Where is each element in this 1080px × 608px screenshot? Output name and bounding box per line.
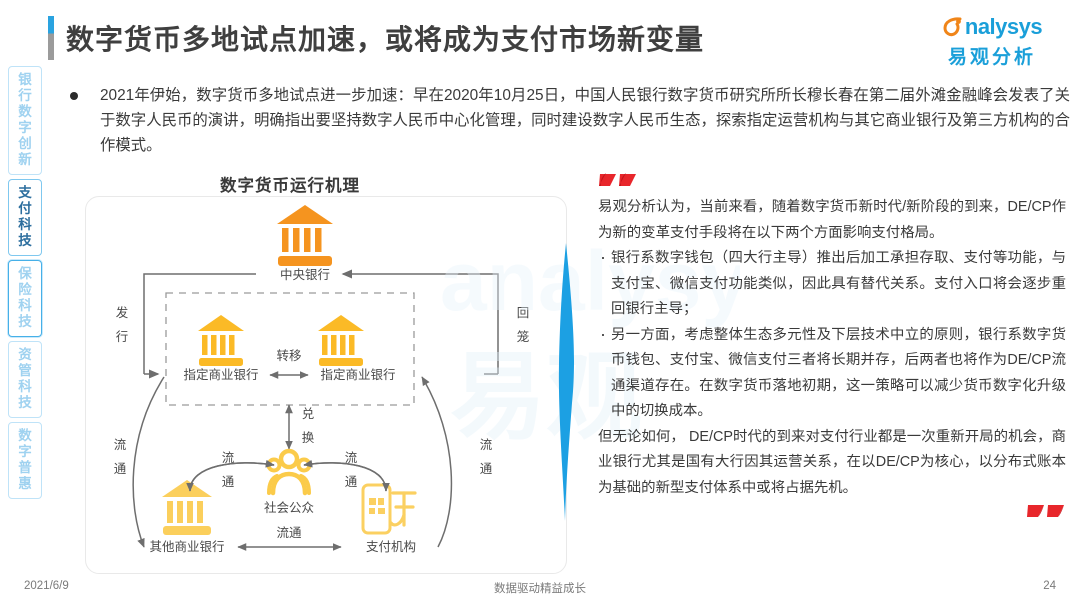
sidebar-char: 数 <box>9 104 41 120</box>
sidebar-char: 新 <box>9 152 41 168</box>
sidebar-char: 保 <box>9 266 41 282</box>
quote-open-icon <box>598 172 644 190</box>
node-label-payment-institution: 支付机构 <box>366 539 416 554</box>
digital-currency-flow-diagram: 中央银行 发 行 回 笼 <box>85 196 567 574</box>
sidebar-char: 险 <box>9 282 41 298</box>
page-title-row: 数字货币多地试点加速，或将成为支付市场新变量 <box>48 16 704 60</box>
panel-bullet-list: 银行系数字钱包（四大行主导）推出后加工承担存取、支付等功能，与支付宝、微信支付功… <box>598 246 1066 425</box>
slide-root: 数字货币多地试点加速，或将成为支付市场新变量 nalysys 易观分析 银 行 … <box>0 0 1080 608</box>
logo-a-icon <box>942 16 964 38</box>
node-label-designated-bank-left: 指定商业银行 <box>183 367 258 382</box>
edge-label-issue-1: 发 <box>116 305 129 320</box>
diagram-title: 数字货币运行机理 <box>0 172 580 196</box>
edge-label-circ-right-inner-2: 通 <box>345 475 358 489</box>
edge-label-issue-2: 行 <box>116 330 129 344</box>
sidebar-char: 惠 <box>9 476 41 492</box>
other-commercial-bank-icon <box>162 480 212 535</box>
sidebar-char: 行 <box>9 88 41 104</box>
diagram-svg: 中央银行 发 行 回 笼 <box>86 197 566 573</box>
blue-lens-divider <box>552 243 580 521</box>
edge-label-circ-left-inner-1: 流 <box>222 451 235 465</box>
edge-label-circ-right-inner-1: 流 <box>345 451 358 465</box>
panel-bullet-item: 另一方面，考虑整体生态多元性及下层技术中立的原则，银行系数字货币钱包、支付宝、微… <box>598 323 1066 425</box>
node-label-central-bank: 中央银行 <box>280 267 330 282</box>
public-people-icon <box>269 451 310 493</box>
sidebar-char: 技 <box>9 314 41 330</box>
node-label-other-bank: 其他商业银行 <box>149 539 224 554</box>
sidebar-char: 字 <box>9 444 41 460</box>
intro-bullet: 2021年伊始，数字货币多地试点进一步加速：早在2020年10月25日，中国人民… <box>70 83 1070 158</box>
edge-label-transfer: 转移 <box>276 348 301 363</box>
sidebar-char: 资 <box>9 347 41 363</box>
commentary-panel: 易观分析认为，当前来看，随着数字货币新时代/新阶段的到来，DE/CP作为新的变革… <box>598 172 1066 501</box>
sidebar-char: 创 <box>9 136 41 152</box>
sidebar-char: 科 <box>9 379 41 395</box>
sidebar-char: 技 <box>9 233 41 249</box>
designated-bank-left-icon <box>198 315 244 366</box>
edge-label-circ-left-outer-1: 流 <box>114 438 127 452</box>
edge-label-withdraw-2: 笼 <box>517 329 530 344</box>
logo-chinese-name: 易观分析 <box>926 42 1058 69</box>
sidebar-char: 科 <box>9 298 41 314</box>
sidebar-char: 字 <box>9 120 41 136</box>
edge-label-circ-right-outer-1: 流 <box>480 438 493 452</box>
central-bank-icon <box>277 205 333 266</box>
payment-institution-icon <box>363 485 415 533</box>
sidebar-char: 管 <box>9 363 41 379</box>
panel-paragraph-2: 但无论如何， DE/CP时代的到来对支付行业都是一次重新开局的机会，商业银行尤其… <box>598 425 1066 502</box>
edge-label-circ-left-inner-2: 通 <box>222 475 235 489</box>
panel-paragraph-1: 易观分析认为，当前来看，随着数字货币新时代/新阶段的到来，DE/CP作为新的变革… <box>598 195 1066 246</box>
sidebar: 银 行 数 字 创 新 支 付 科 技 保 险 科 技 资 管 科 技 数 字 <box>8 66 42 503</box>
footer-page-number: 24 <box>1043 580 1056 592</box>
node-label-public: 社会公众 <box>264 500 314 515</box>
quote-close-icon <box>1020 503 1066 521</box>
sidebar-item-bank-digital-innovation[interactable]: 银 行 数 字 创 新 <box>8 66 42 175</box>
logo-wordmark: nalysys <box>965 16 1042 38</box>
analysys-logo: nalysys 易观分析 <box>926 14 1058 69</box>
sidebar-char: 银 <box>9 72 41 88</box>
edge-label-exchange-1: 兑 <box>302 407 315 421</box>
sidebar-item-insurance-tech[interactable]: 保 险 科 技 <box>8 260 42 337</box>
designated-bank-right-icon <box>318 315 364 366</box>
bullet-dot-icon <box>70 92 78 100</box>
sidebar-char: 付 <box>9 201 41 217</box>
edge-label-circ-left-outer-2: 通 <box>114 462 127 476</box>
sidebar-char: 数 <box>9 428 41 444</box>
sidebar-char: 普 <box>9 460 41 476</box>
node-label-designated-bank-right: 指定商业银行 <box>320 367 395 382</box>
sidebar-char: 技 <box>9 395 41 411</box>
logo-wordmark-row: nalysys <box>926 14 1058 40</box>
sidebar-char: 科 <box>9 217 41 233</box>
edge-label-circ-right-outer-2: 通 <box>480 462 493 476</box>
panel-bullet-item: 银行系数字钱包（四大行主导）推出后加工承担存取、支付等功能，与支付宝、微信支付功… <box>598 246 1066 323</box>
footer: 2021/6/9 数据驱动精益成长 24 <box>0 580 1080 596</box>
edge-label-exchange-2: 换 <box>302 431 315 445</box>
edge-label-withdraw-1: 回 <box>517 306 530 320</box>
footer-slogan: 数据驱动精益成长 <box>0 580 1080 596</box>
sidebar-item-asset-management-tech[interactable]: 资 管 科 技 <box>8 341 42 418</box>
page-title: 数字货币多地试点加速，或将成为支付市场新变量 <box>66 18 704 58</box>
edge-label-circulate-bottom: 流通 <box>276 526 302 540</box>
sidebar-item-digital-inclusive-finance[interactable]: 数 字 普 惠 <box>8 422 42 499</box>
intro-paragraph: 2021年伊始，数字货币多地试点进一步加速：早在2020年10月25日，中国人民… <box>100 83 1070 158</box>
title-accent-bar <box>48 16 54 60</box>
